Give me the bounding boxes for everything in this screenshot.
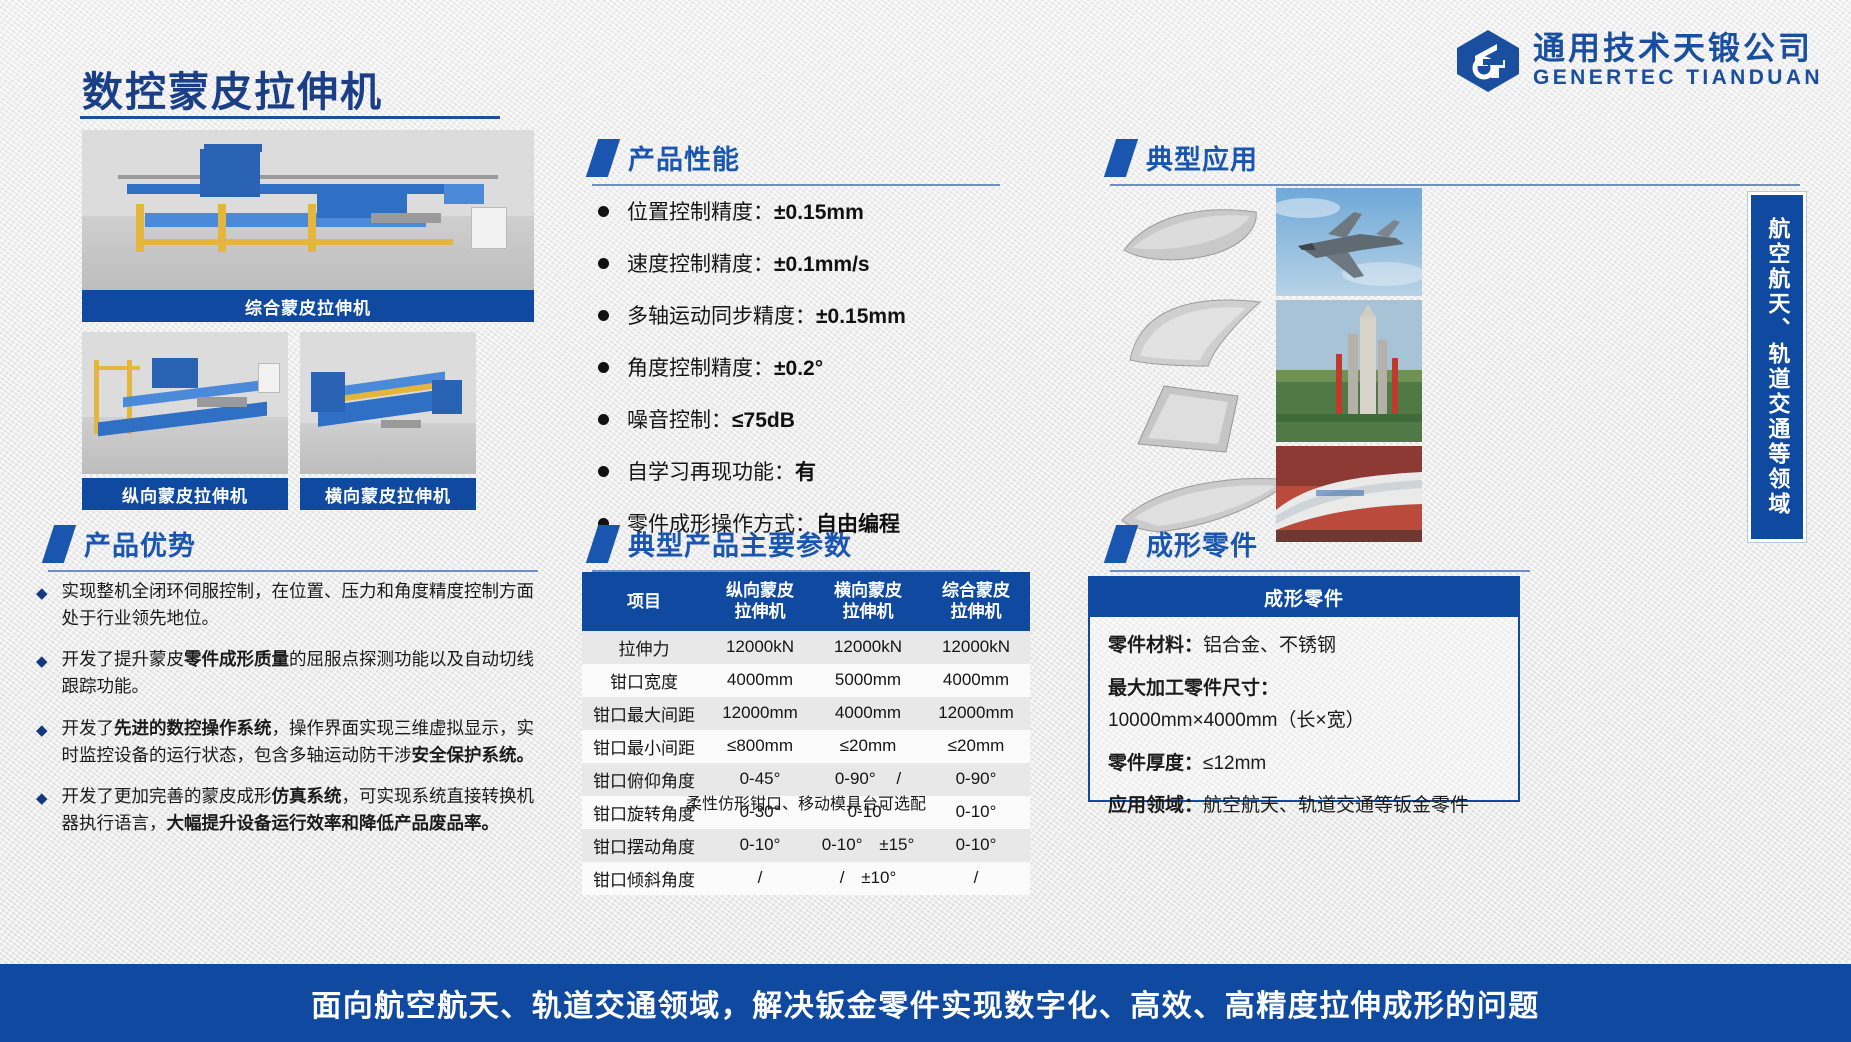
title-underline: [80, 116, 500, 119]
param-name: 钳口最小间距: [582, 730, 706, 763]
performance-item-label: 自学习再现功能：: [627, 461, 795, 484]
performance-item-value: ≤75dB: [732, 409, 795, 432]
logo-text-chinese: 通用技术天锻公司: [1533, 32, 1823, 66]
param-value: ≤20mm: [814, 730, 922, 763]
poster-root: 数控蒙皮拉伸机 通用技术天锻公司 GENERTEC TIANDUAN: [0, 0, 1851, 1042]
application-thumb-formed-panel-2: [1120, 290, 1270, 372]
table-row: 钳口摆动角度 0-10° 0-10° ±15° 0-10°: [582, 829, 1030, 862]
bullet-dot-icon: [598, 206, 609, 217]
params-col-transverse-line2: 拉伸机: [843, 602, 894, 621]
param-value: 12000kN: [922, 631, 1030, 664]
params-col-combined-line1: 综合蒙皮: [942, 581, 1010, 600]
formed-parts-row: 应用领域：航空航天、轨道交通等钣金零件: [1108, 793, 1500, 820]
performance-section-header: 产品性能: [592, 138, 1000, 186]
bottom-banner: 面向航空航天、轨道交通领域，解决钣金零件实现数字化、高效、高精度拉伸成形的问题: [0, 964, 1851, 1042]
advantages-list: ◆ 实现整机全闭环伺服控制，在位置、压力和角度精度控制方面处于行业领先地位。 ◆…: [36, 578, 546, 851]
advantage-item: ◆ 开发了更加完善的蒙皮成形仿真系统，可实现系统直接转换机器执行语言，大幅提升设…: [36, 783, 546, 837]
formed-parts-panel: 成形零件 零件材料：铝合金、不锈钢 最大加工零件尺寸： 10000mm×4000…: [1088, 576, 1520, 802]
formed-parts-row: 最大加工零件尺寸：: [1108, 676, 1500, 703]
advantage-text: 实现整机全闭环伺服控制，在位置、压力和角度精度控制方面处于行业领先地位。: [62, 578, 546, 632]
params-col-item: 项目: [582, 572, 706, 631]
param-value-split: 0-10° ±15°: [814, 829, 922, 862]
performance-item: 多轴运动同步精度：±0.15mm: [598, 300, 1018, 330]
params-table-note: 柔性仿形钳口、移动模具台可选配: [582, 790, 1030, 814]
advantage-item: ◆ 实现整机全闭环伺服控制，在位置、压力和角度精度控制方面处于行业领先地位。: [36, 578, 546, 632]
params-table-header-row: 项目 纵向蒙皮 拉伸机 横向蒙皮 拉伸机 综合蒙皮 拉伸机: [582, 572, 1030, 631]
params-col-longitudinal: 纵向蒙皮 拉伸机: [706, 572, 814, 631]
params-col-longitudinal-line2: 拉伸机: [735, 602, 786, 621]
company-logo: 通用技术天锻公司 GENERTEC TIANDUAN: [1455, 28, 1823, 94]
advantages-section-header: 产品优势: [48, 524, 538, 572]
advantages-title: 产品优势: [84, 524, 196, 563]
slash-accent-icon: [586, 139, 620, 177]
table-row: 钳口倾斜角度 / / ±10° /: [582, 862, 1030, 895]
main-machine-image: [82, 130, 534, 290]
transverse-machine-caption: 横向蒙皮拉伸机: [300, 478, 476, 510]
slash-accent-icon: [1104, 139, 1138, 177]
performance-item: 位置控制精度：±0.15mm: [598, 196, 1018, 226]
param-value: 12000mm: [706, 697, 814, 730]
performance-item-label: 位置控制精度：: [627, 201, 774, 224]
param-value: 4000mm: [922, 664, 1030, 697]
formed-parts-label: 零件厚度：: [1108, 753, 1203, 774]
formed-parts-value: ≤12mm: [1203, 753, 1266, 774]
advantage-item: ◆ 开发了先进的数控操作系统，操作界面实现三维虚拟显示，实时监控设备的运行状态，…: [36, 715, 546, 769]
bullet-dot-icon: [598, 414, 609, 425]
param-value: 4000mm: [814, 697, 922, 730]
application-thumb-formed-panel-1: [1118, 192, 1268, 272]
performance-item: 角度控制精度：±0.2°: [598, 352, 1018, 382]
slash-accent-icon: [1104, 525, 1138, 563]
diamond-bullet-icon: ◆: [36, 787, 48, 810]
bullet-dot-icon: [598, 466, 609, 477]
diamond-bullet-icon: ◆: [36, 582, 48, 605]
application-vertical-label: 航空航天、轨道交通等领域: [1748, 192, 1806, 542]
performance-item: 速度控制精度：±0.1mm/s: [598, 248, 1018, 278]
performance-item-value: ±0.1mm/s: [774, 253, 870, 276]
formed-parts-label: 零件材料：: [1108, 635, 1203, 656]
formed-parts-label: 最大加工零件尺寸：: [1108, 678, 1279, 699]
slash-accent-icon: [42, 525, 76, 563]
longitudinal-machine-image: [82, 332, 288, 474]
formed-parts-label: 应用领域：: [1108, 795, 1203, 816]
param-name: 钳口宽度: [582, 664, 706, 697]
bottom-banner-text: 面向航空航天、轨道交通领域，解决钣金零件实现数字化、高效、高精度拉伸成形的问题: [311, 981, 1540, 1025]
param-value: ≤20mm: [922, 730, 1030, 763]
performance-item-value: ±0.2°: [774, 357, 823, 380]
performance-list: 位置控制精度：±0.15mm 速度控制精度：±0.1mm/s 多轴运动同步精度：…: [598, 196, 1018, 560]
table-row: 钳口最小间距 ≤800mm ≤20mm ≤20mm: [582, 730, 1030, 763]
performance-item: 噪音控制：≤75dB: [598, 404, 1018, 434]
application-thumb-rocket-launch: [1276, 300, 1422, 442]
performance-item-value: 有: [795, 461, 816, 484]
param-name: 钳口最大间距: [582, 697, 706, 730]
formed-parts-panel-header: 成形零件: [1090, 578, 1518, 617]
application-thumb-formed-panel-3: [1118, 382, 1268, 462]
param-value: 4000mm: [706, 664, 814, 697]
performance-item-value: ±0.15mm: [774, 201, 864, 224]
application-title: 典型应用: [1146, 138, 1258, 177]
param-value: 12000mm: [922, 697, 1030, 730]
param-value: /: [706, 862, 814, 895]
param-value: 12000kN: [706, 631, 814, 664]
param-value: ≤800mm: [706, 730, 814, 763]
slash-accent-icon: [586, 525, 620, 563]
performance-item-label: 噪音控制：: [627, 409, 732, 432]
performance-title: 产品性能: [628, 138, 740, 177]
params-section-header: 典型产品主要参数: [592, 524, 1000, 572]
param-name: 钳口摆动角度: [582, 829, 706, 862]
performance-item-label: 速度控制精度：: [627, 253, 774, 276]
bullet-dot-icon: [598, 258, 609, 269]
param-name: 拉伸力: [582, 631, 706, 664]
params-col-transverse-line1: 横向蒙皮: [834, 581, 902, 600]
diamond-bullet-icon: ◆: [36, 650, 48, 673]
advantage-text: 开发了提升蒙皮零件成形质量的屈服点探测功能以及自动切线跟踪功能。: [62, 646, 546, 700]
performance-item-value: ±0.15mm: [816, 305, 906, 328]
page-title: 数控蒙皮拉伸机: [82, 58, 383, 118]
param-value: 0-10°: [706, 829, 814, 862]
param-value: 12000kN: [814, 631, 922, 664]
formed-parts-row: 10000mm×4000mm（长×宽）: [1108, 708, 1500, 735]
table-row: 钳口宽度 4000mm 5000mm 4000mm: [582, 664, 1030, 697]
advantage-item: ◆ 开发了提升蒙皮零件成形质量的屈服点探测功能以及自动切线跟踪功能。: [36, 646, 546, 700]
transverse-machine-image: [300, 332, 476, 474]
bullet-dot-icon: [598, 362, 609, 373]
main-machine-caption: 综合蒙皮拉伸机: [82, 290, 534, 322]
params-col-combined: 综合蒙皮 拉伸机: [922, 572, 1030, 631]
params-col-combined-line2: 拉伸机: [951, 602, 1002, 621]
application-section-header: 典型应用: [1110, 138, 1800, 186]
formed-parts-title: 成形零件: [1146, 524, 1258, 563]
logo-text-english: GENERTEC TIANDUAN: [1533, 65, 1823, 90]
param-value: /: [922, 862, 1030, 895]
params-col-transverse: 横向蒙皮 拉伸机: [814, 572, 922, 631]
formed-parts-row: 零件厚度：≤12mm: [1108, 751, 1500, 778]
params-title: 典型产品主要参数: [628, 524, 852, 563]
performance-item-label: 角度控制精度：: [627, 357, 774, 380]
application-thumb-fighter-jet: [1276, 188, 1422, 296]
param-value: 0-10°: [922, 829, 1030, 862]
formed-parts-value: 航空航天、轨道交通等钣金零件: [1203, 795, 1469, 816]
gh-monogram-icon: [1455, 28, 1521, 94]
params-col-longitudinal-line1: 纵向蒙皮: [726, 581, 794, 600]
params-table: 项目 纵向蒙皮 拉伸机 横向蒙皮 拉伸机 综合蒙皮 拉伸机 拉伸力 12000k…: [582, 572, 1030, 895]
advantage-text: 开发了更加完善的蒙皮成形仿真系统，可实现系统直接转换机器执行语言，大幅提升设备运…: [62, 783, 546, 837]
bullet-dot-icon: [598, 310, 609, 321]
param-value: 5000mm: [814, 664, 922, 697]
longitudinal-machine-caption: 纵向蒙皮拉伸机: [82, 478, 288, 510]
performance-item: 自学习再现功能：有: [598, 456, 1018, 486]
formed-parts-section-header: 成形零件: [1110, 524, 1530, 572]
param-value-split: / ±10°: [814, 862, 922, 895]
formed-parts-value: 10000mm×4000mm（长×宽）: [1108, 710, 1365, 731]
diamond-bullet-icon: ◆: [36, 719, 48, 742]
advantage-text: 开发了先进的数控操作系统，操作界面实现三维虚拟显示，实时监控设备的运行状态，包含…: [62, 715, 546, 769]
table-row: 钳口最大间距 12000mm 4000mm 12000mm: [582, 697, 1030, 730]
performance-item-label: 多轴运动同步精度：: [627, 305, 816, 328]
formed-parts-value: 铝合金、不锈钢: [1203, 635, 1336, 656]
param-name: 钳口倾斜角度: [582, 862, 706, 895]
formed-parts-row: 零件材料：铝合金、不锈钢: [1108, 633, 1500, 660]
table-row: 拉伸力 12000kN 12000kN 12000kN: [582, 631, 1030, 664]
